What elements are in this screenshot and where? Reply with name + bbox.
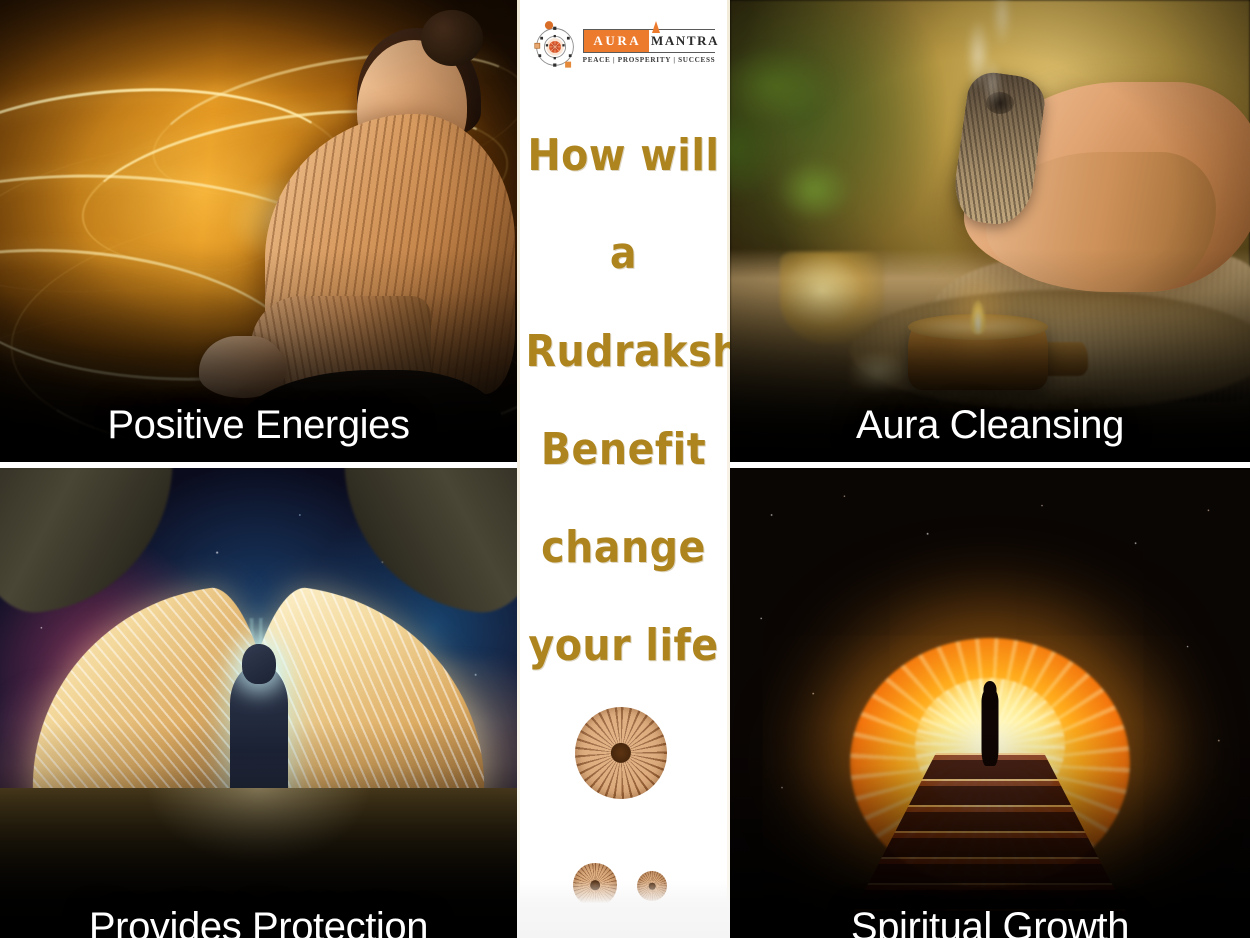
atom-orbital-icon [532, 21, 578, 71]
headline-line-1: How will [526, 107, 722, 205]
logo-wordmark: AURA MANTRA PEACE | PROSPERITY | SUCCESS [583, 29, 716, 64]
panel-positive-energies[interactable]: Positive Energies [0, 0, 517, 462]
headline-line-3: Rudraksh [526, 303, 722, 401]
panel-spiritual-growth[interactable]: Spiritual Growth [730, 468, 1250, 938]
meditating-woman-golden-energy-waves-art [0, 0, 517, 462]
rudraksha-bead-large [575, 707, 667, 799]
headline-line-2: a [526, 205, 722, 303]
bottom-fade-strip [517, 880, 730, 938]
panel-caption: Positive Energies [0, 403, 517, 448]
logo-text-aura: AURA [584, 30, 649, 52]
rudraksha-benefits-collage: Positive Energies Aura Cleansing [0, 0, 1250, 938]
smudge-stick-smoke-candles-art [730, 0, 1250, 462]
center-text-column: AURA MANTRA PEACE | PROSPERITY | SUCCESS… [517, 0, 730, 938]
rudraksha-beads-group [517, 695, 730, 938]
headline-line-4: Benefit [526, 401, 722, 499]
panel-caption: Spiritual Growth [730, 905, 1250, 938]
horizontal-divider-left [0, 462, 517, 468]
silhouette-stairway-fiery-vortex-art [730, 468, 1250, 938]
headline-block: How will a Rudraksh Benefit change your … [526, 107, 722, 695]
panel-caption: Provides Protection [0, 905, 517, 938]
logo-tagline: PEACE | PROSPERITY | SUCCESS [583, 56, 716, 64]
panel-provides-protection[interactable]: Provides Protection [0, 468, 517, 938]
logo-triangle-accent [652, 21, 660, 33]
headline-line-5: change [526, 499, 722, 597]
horizontal-divider-right [730, 462, 1250, 468]
panel-caption: Aura Cleansing [730, 403, 1250, 448]
logo-text-mantra: MANTRA [649, 30, 719, 52]
winged-luminous-being-cosmic-halo-art [0, 468, 517, 938]
brand-logo[interactable]: AURA MANTRA PEACE | PROSPERITY | SUCCESS [534, 21, 714, 71]
headline-line-6: your life [526, 597, 722, 695]
panel-aura-cleansing[interactable]: Aura Cleansing [730, 0, 1250, 462]
